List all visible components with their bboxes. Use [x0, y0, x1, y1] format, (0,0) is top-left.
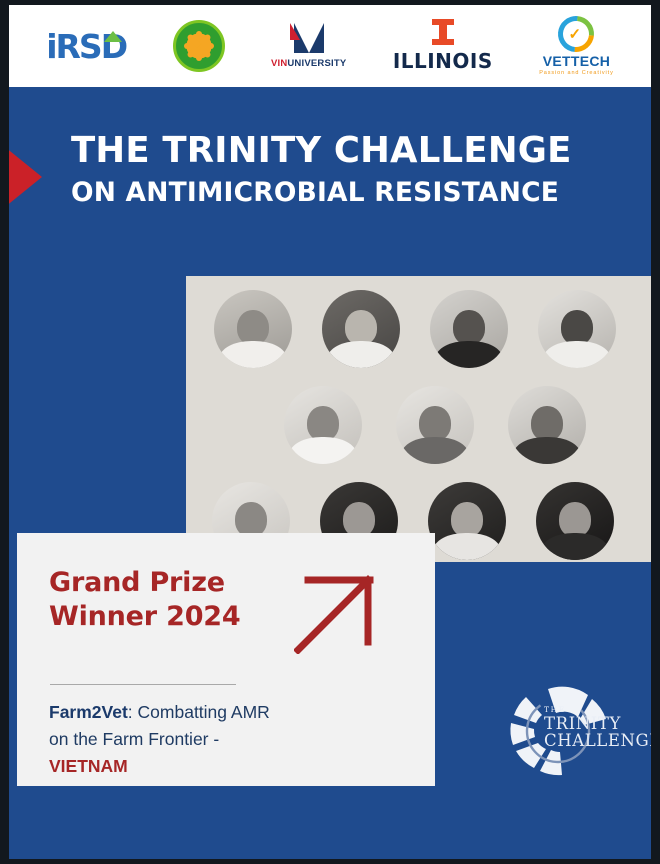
prize-title-line-1: Grand Prize — [49, 566, 240, 600]
illinois-block-i-icon — [432, 19, 454, 45]
portrait-row — [214, 290, 616, 368]
award-info-card: Grand Prize Winner 2024 Farm2Vet: Combat… — [17, 533, 435, 786]
vinuniversity-chevron-icon — [286, 23, 332, 53]
portrait-row — [284, 386, 586, 464]
project-separator: : — [128, 702, 138, 722]
irsd-triangle-icon — [104, 31, 122, 42]
project-description: Farm2Vet: Combatting AMR on the Farm Fro… — [49, 699, 369, 779]
portrait-avatar — [284, 386, 362, 464]
project-country: VIETNAM — [49, 756, 128, 776]
vettech-wordmark: VETTECH — [543, 54, 610, 68]
prize-title-line-2: Winner 2024 — [49, 600, 240, 634]
portrait-avatar — [428, 482, 506, 560]
portrait-avatar — [322, 290, 400, 368]
portrait-avatar — [538, 290, 616, 368]
trinity-logo-line-1: TRINITY — [544, 715, 651, 732]
project-description-line-1: Combatting AMR — [138, 702, 270, 722]
vettech-logo: ✓ VETTECH Passion and Creativity — [539, 16, 614, 76]
partner-logo-bar: iRSD — [9, 5, 651, 87]
prize-title: Grand Prize Winner 2024 — [49, 566, 240, 635]
red-arrow-accent-icon — [9, 143, 42, 211]
team-portrait-panel — [186, 276, 651, 562]
page-title: THE TRINITY CHALLENGE ON ANTIMICROBIAL R… — [71, 130, 631, 209]
page-title-line-1: THE TRINITY CHALLENGE — [71, 130, 631, 171]
trinity-logo-the: THE — [544, 706, 651, 714]
vnua-seal-center — [182, 29, 216, 63]
vnua-seal-icon — [173, 20, 225, 72]
vettech-tagline: Passion and Creativity — [539, 70, 614, 76]
trinity-challenge-wordmark: THE TRINITY CHALLENGE — [544, 706, 651, 749]
portrait-avatar — [214, 290, 292, 368]
portrait-avatar — [536, 482, 614, 560]
irsd-logo: iRSD — [46, 30, 126, 63]
project-name: Farm2Vet — [49, 702, 128, 722]
project-description-line-2: on the Farm Frontier - — [49, 729, 219, 749]
vnua-seal-logo — [173, 20, 225, 72]
trinity-logo-line-2: CHALLENGE — [544, 732, 651, 749]
poster-root: iRSD — [0, 0, 660, 864]
illinois-wordmark: ILLINOIS — [393, 49, 493, 73]
portrait-avatar — [396, 386, 474, 464]
arrow-up-right-icon — [294, 572, 376, 659]
poster-canvas: iRSD — [9, 5, 651, 859]
trinity-challenge-logo: THE TRINITY CHALLENGE — [496, 673, 646, 785]
vinuniversity-word-a: VIN — [271, 58, 287, 69]
vettech-ring-icon: ✓ — [558, 16, 594, 52]
page-title-line-2: ON ANTIMICROBIAL RESISTANCE — [71, 177, 631, 209]
illinois-logo: ILLINOIS — [393, 19, 493, 73]
portrait-avatar — [430, 290, 508, 368]
portrait-avatar — [508, 386, 586, 464]
vinuniversity-logo: VINUNIVERSITY — [271, 23, 346, 69]
vinuniversity-word-b: UNIVERSITY — [287, 58, 346, 69]
card-divider — [50, 684, 236, 685]
vinuniversity-wordmark: VINUNIVERSITY — [271, 58, 346, 69]
